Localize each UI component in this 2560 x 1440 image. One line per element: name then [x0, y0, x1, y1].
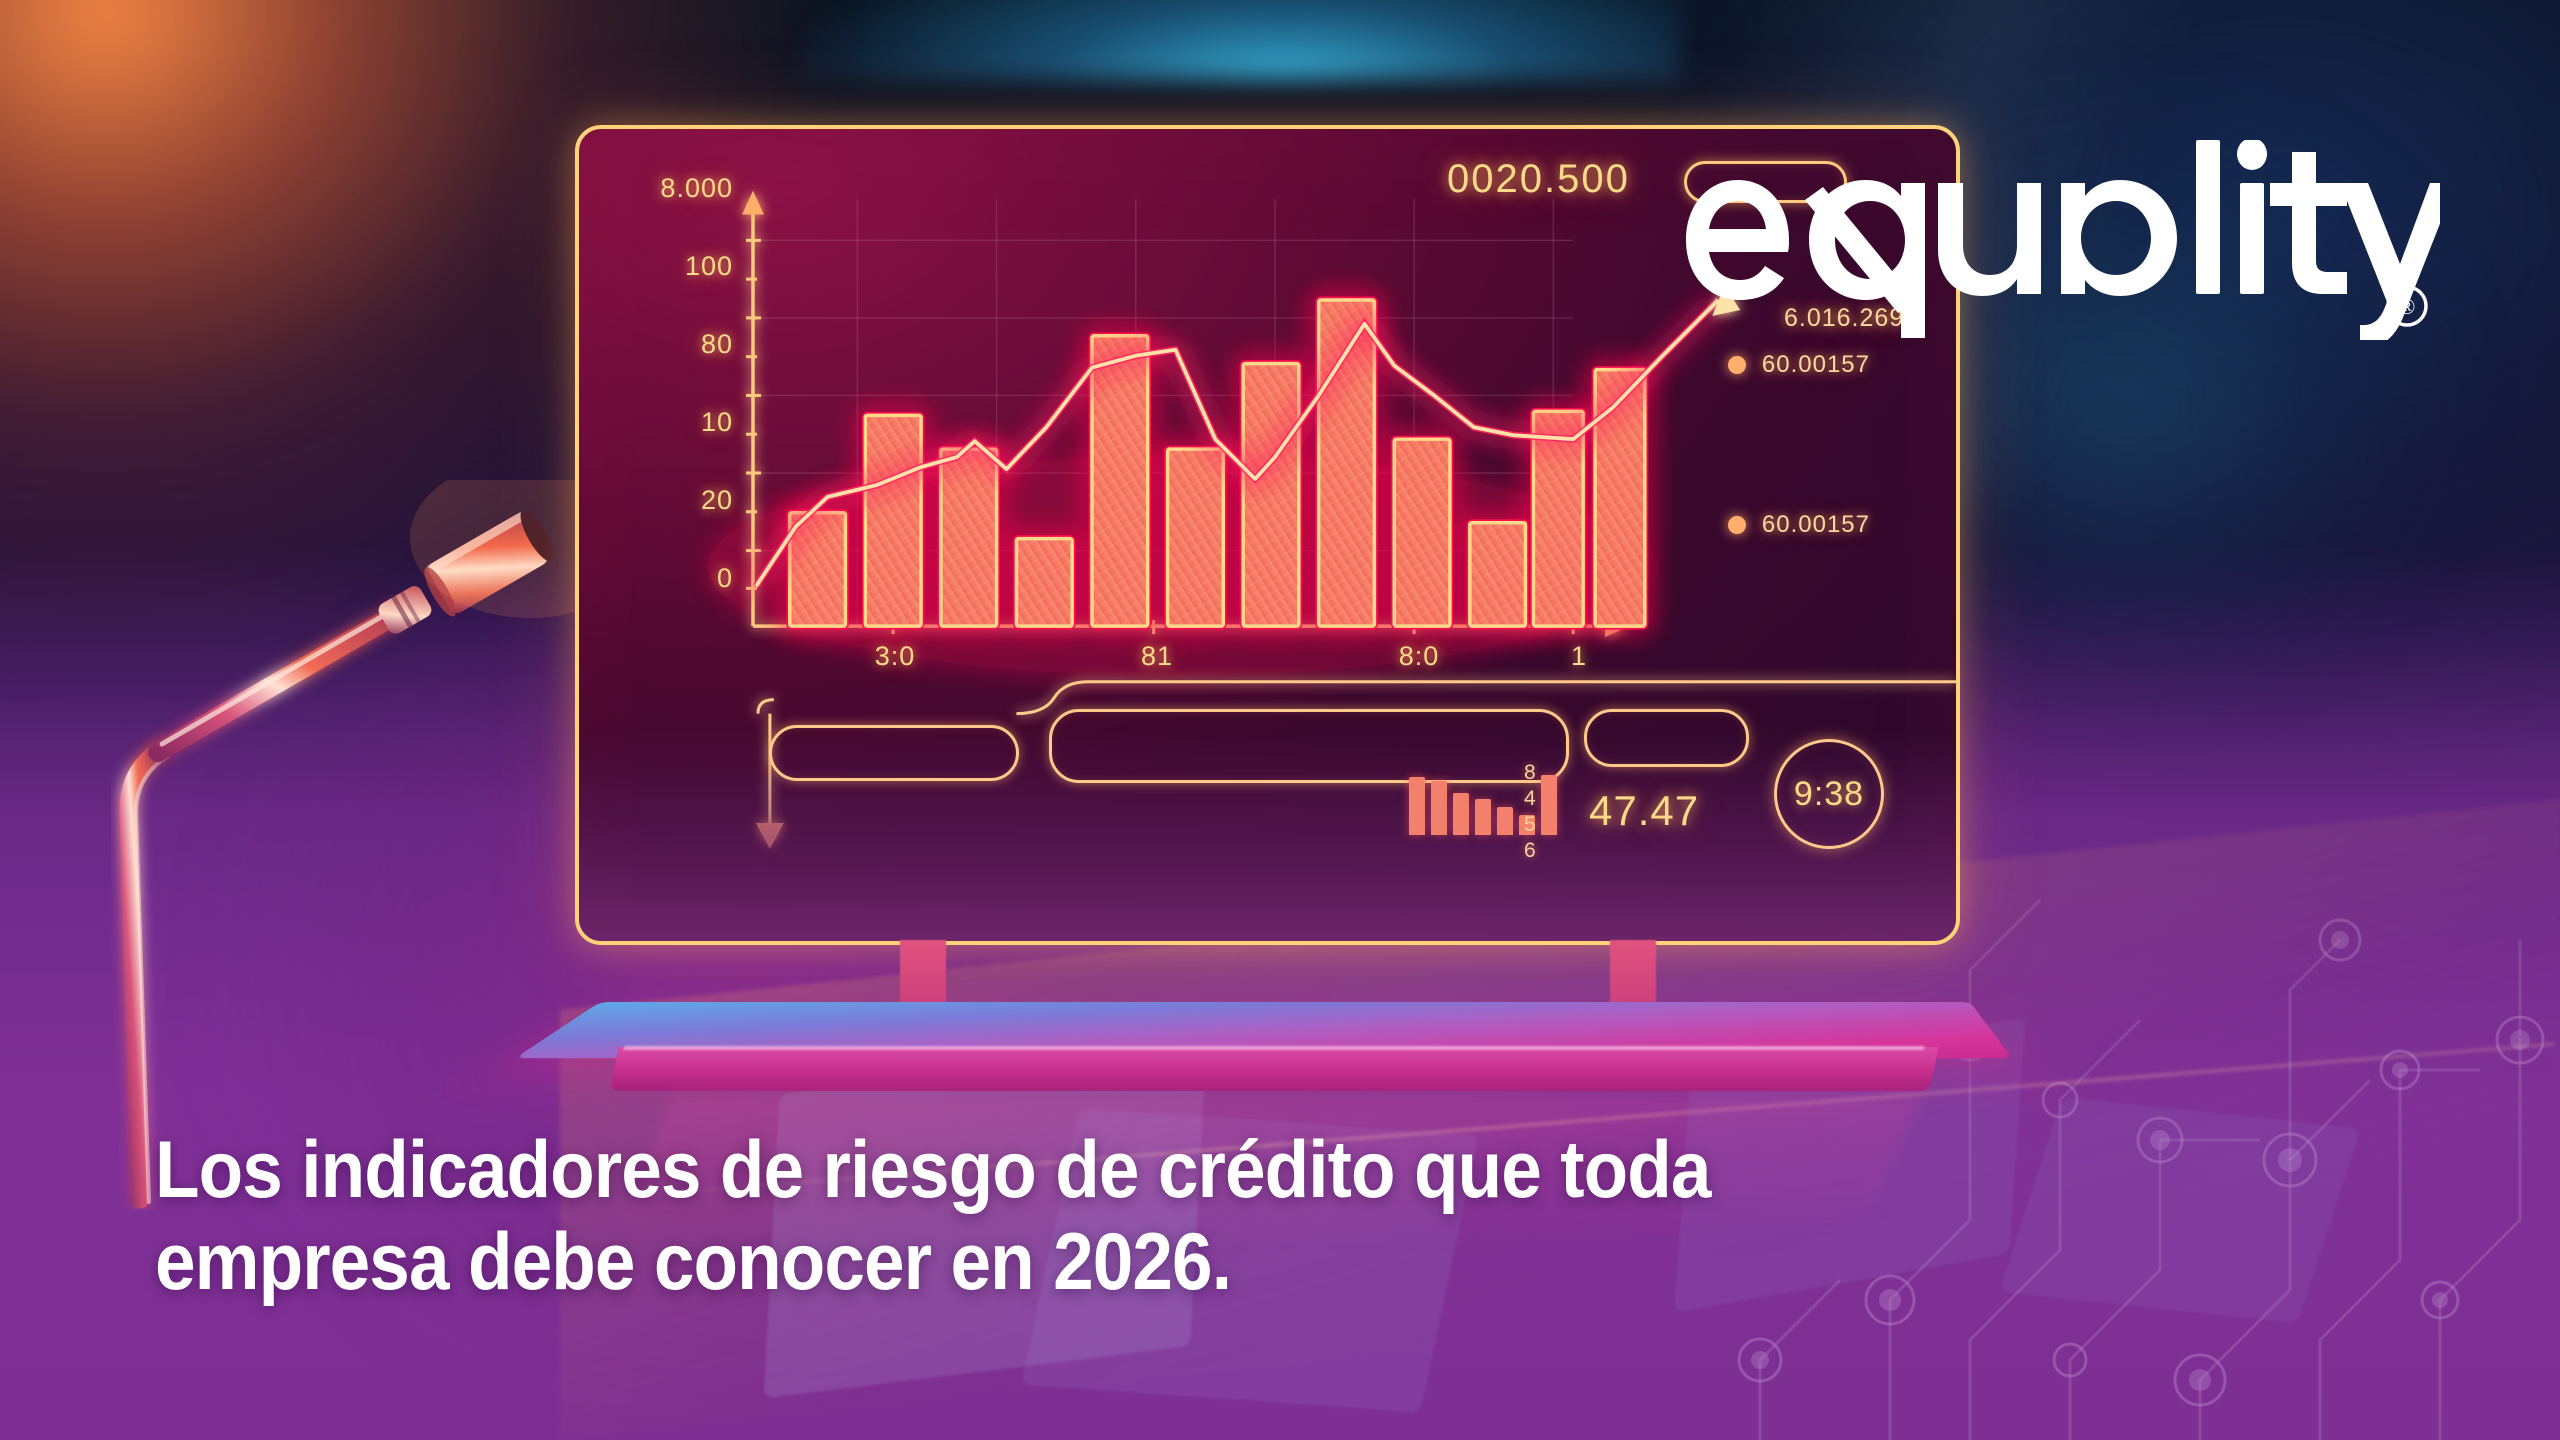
bar — [1533, 411, 1583, 626]
dashboard-bottom-panel: 8 4 5 6 47.47 9:38 — [579, 711, 1956, 941]
headline-line-2: empresa debe conocer en 2026. — [155, 1217, 2090, 1309]
legend-dot-icon — [1728, 356, 1746, 374]
clock-time: 9:38 — [1794, 775, 1864, 814]
y-tick-label: 20 — [701, 485, 733, 516]
top-readout-value: 0020.500 — [1447, 157, 1630, 202]
x-tick-label: 3:0 — [875, 641, 916, 672]
x-tick-label: 8:0 — [1399, 641, 1440, 672]
panel-pill-1[interactable] — [769, 725, 1019, 781]
bar — [1595, 370, 1645, 627]
page-title: Los indicadores de riesgo de crédito que… — [155, 1125, 2090, 1308]
mini-digit: 6 — [1524, 839, 1536, 862]
legend-dot-icon — [1728, 516, 1746, 534]
y-tick-label: 100 — [685, 251, 733, 282]
legend-item-1[interactable]: 60.00157 — [1728, 351, 1870, 379]
bar — [1168, 449, 1224, 626]
desk-lamp — [100, 480, 620, 1210]
y-tick-label: 8.000 — [660, 173, 733, 204]
bar — [790, 513, 846, 626]
x-tick-label: 81 — [1141, 641, 1173, 672]
clock-widget: 9:38 — [1774, 739, 1884, 849]
equality-logo: ® — [1680, 140, 2440, 340]
svg-text:®: ® — [2399, 294, 2416, 319]
legend-item-2[interactable]: 60.00157 — [1728, 511, 1870, 539]
bar — [1243, 364, 1299, 626]
legend-label: 60.00157 — [1762, 511, 1870, 539]
bar — [865, 415, 921, 626]
y-tick-label: 80 — [701, 329, 733, 360]
monitor-stand-highlight — [624, 1046, 1925, 1050]
poster-canvas: 8.000 100 80 10 20 0 3:0 81 8:0 1 0020.5… — [0, 0, 2560, 1440]
x-tick-label: 1 — [1571, 641, 1587, 672]
y-tick-label: 10 — [701, 407, 733, 438]
bar — [1470, 523, 1526, 626]
monitor-stand-front — [609, 1047, 1938, 1091]
bar — [1394, 439, 1450, 626]
legend-label: 60.00157 — [1762, 351, 1870, 379]
headline-line-1: Los indicadores de riesgo de crédito que… — [155, 1125, 2090, 1217]
bar — [1092, 336, 1148, 626]
panel-value: 47.47 — [1589, 787, 1699, 835]
panel-pill-3[interactable] — [1584, 709, 1749, 767]
bar — [1016, 539, 1072, 626]
mini-digit: 5 — [1524, 813, 1536, 836]
mini-chart-digits: 8 4 5 6 — [1524, 761, 1536, 862]
mini-digit: 4 — [1524, 787, 1536, 810]
x-axis-labels: 3:0 81 8:0 1 — [579, 641, 1956, 687]
y-tick-label: 0 — [717, 563, 733, 594]
mini-digit: 8 — [1524, 761, 1536, 784]
bar — [941, 449, 997, 626]
